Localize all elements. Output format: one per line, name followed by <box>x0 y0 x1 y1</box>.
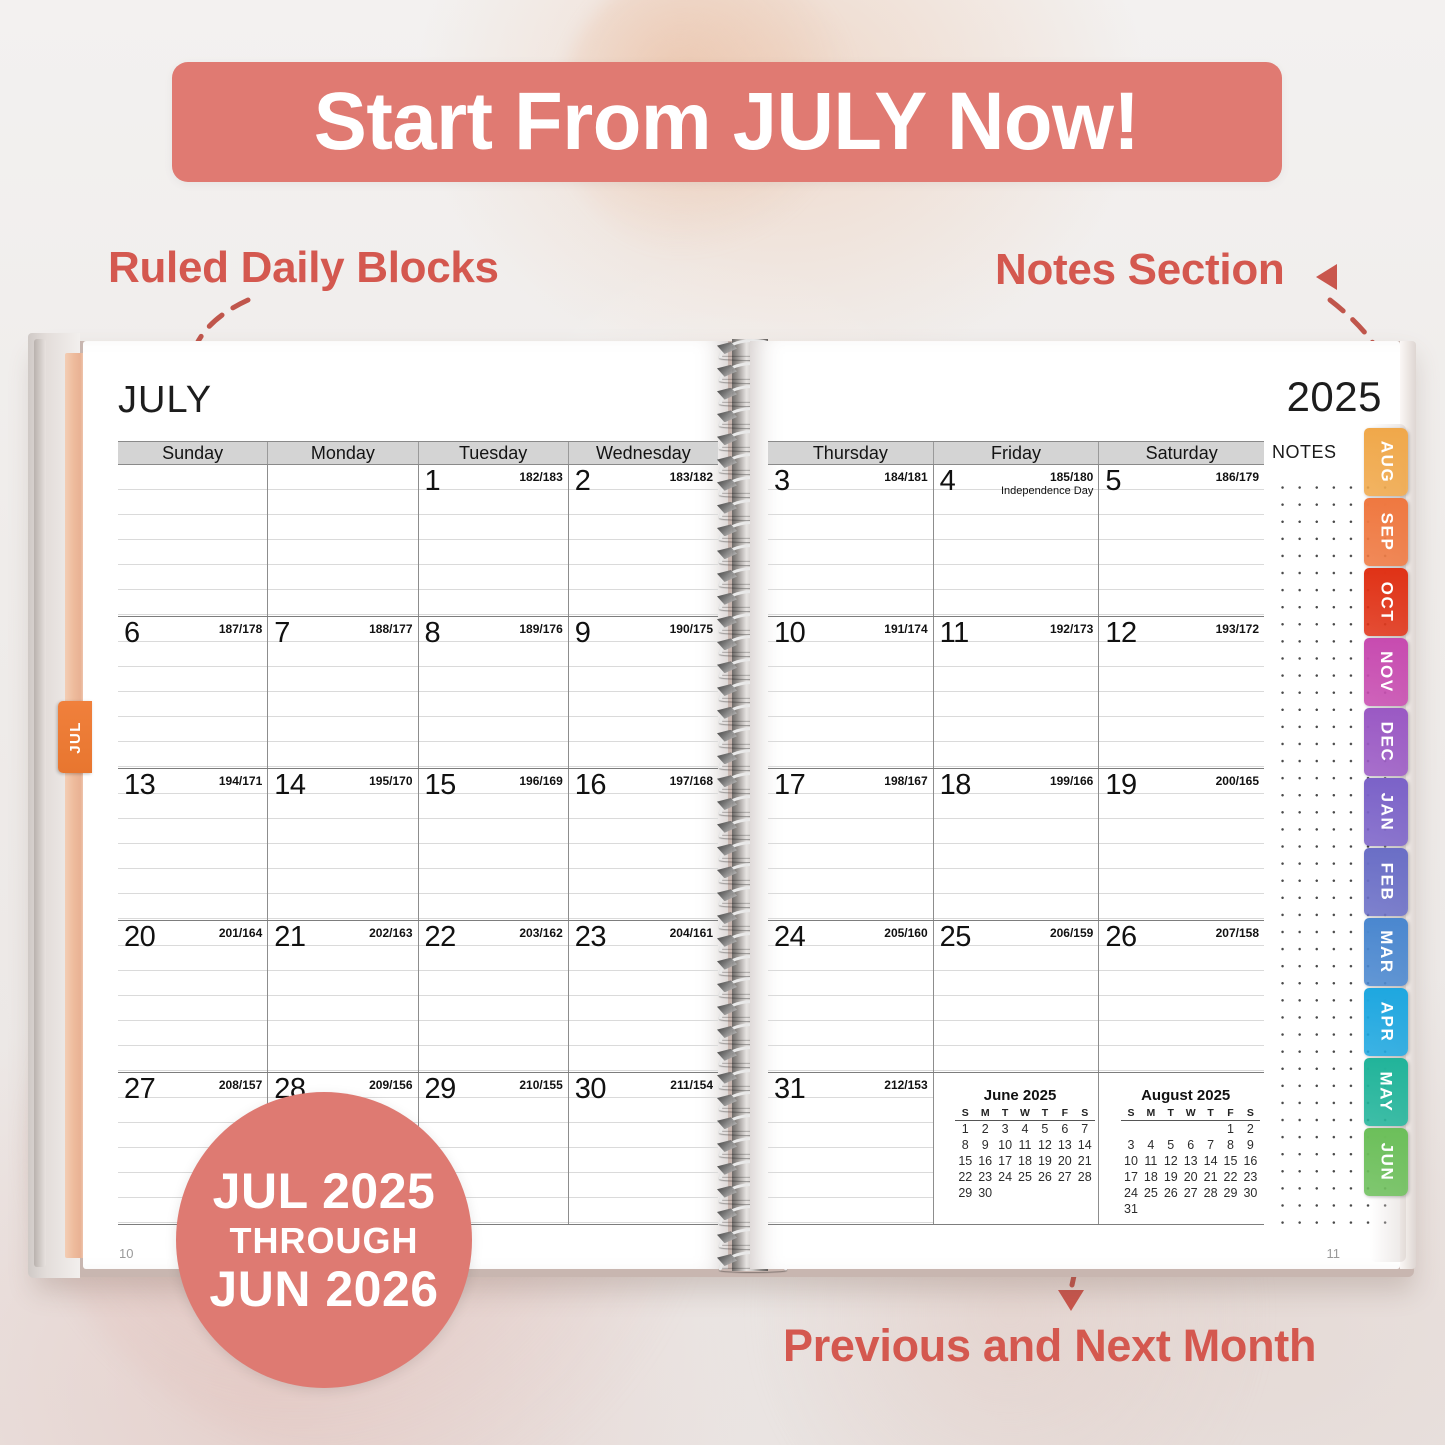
month-tab-jun[interactable]: JUN <box>1364 1128 1408 1196</box>
day-of-year-meta: 206/159 <box>1050 927 1093 941</box>
page-number-right: 11 <box>1327 1246 1341 1261</box>
month-title: JULY <box>118 379 212 422</box>
day-of-year-value: 184/181 <box>884 470 927 484</box>
month-tab-feb[interactable]: FEB <box>1364 848 1408 916</box>
day-of-year-meta: 210/155 <box>519 1079 562 1093</box>
mini-calendar-day[interactable]: 25 <box>1015 1169 1035 1185</box>
mini-calendar-day[interactable] <box>1181 1121 1201 1138</box>
mini-calendar-day[interactable] <box>1035 1185 1055 1201</box>
mini-calendar-week-row: 12 <box>1121 1121 1260 1138</box>
mini-calendar-day[interactable]: 23 <box>975 1169 995 1185</box>
day-of-year-meta: 212/153 <box>884 1079 927 1093</box>
mini-calendar-day[interactable] <box>1240 1201 1260 1217</box>
mini-calendar-day[interactable]: 22 <box>1221 1169 1241 1185</box>
week-rows-left: 1182/1832183/1826187/1787188/1778189/176… <box>118 465 718 1225</box>
day-cell[interactable]: 25206/159 <box>934 921 1100 1072</box>
day-of-year-value: 203/162 <box>519 926 562 940</box>
mini-calendar-day[interactable] <box>1181 1201 1201 1217</box>
day-cell[interactable]: 17198/167 <box>768 769 934 920</box>
day-cell[interactable]: June 2025SMTWTFS123456789101112131415161… <box>934 1073 1100 1224</box>
weekday-header-monday: Monday <box>268 442 418 464</box>
mini-calendar-day[interactable]: 19 <box>1035 1153 1055 1169</box>
day-of-year-meta: 200/165 <box>1216 775 1259 789</box>
day-cell[interactable] <box>118 465 268 616</box>
day-number: 10 <box>774 619 805 648</box>
mini-calendar-day[interactable]: 7 <box>1075 1121 1095 1138</box>
mini-calendar-weekday: W <box>1015 1107 1035 1121</box>
day-of-year-value: 190/175 <box>670 622 713 636</box>
month-tab-sep[interactable]: SEP <box>1364 498 1408 566</box>
month-tab-jan-label: JAN <box>1376 793 1396 832</box>
day-cell[interactable]: 10191/174 <box>768 617 934 768</box>
date-range-badge: JUL 2025 THROUGH JUN 2026 <box>176 1092 472 1388</box>
day-of-year-value: 202/163 <box>369 926 412 940</box>
mini-calendar-header-row: SMTWTFS <box>1121 1107 1260 1121</box>
day-of-year-meta: 186/179 <box>1216 471 1259 485</box>
mini-calendar-weekday: F <box>1221 1107 1241 1121</box>
month-tab-may-label: MAY <box>1376 1071 1396 1112</box>
mini-calendar-day[interactable] <box>1221 1201 1241 1217</box>
mini-calendar-day[interactable] <box>1201 1121 1221 1138</box>
day-of-year-value: 204/161 <box>670 926 713 940</box>
week-row: 24205/16025206/15926207/158 <box>768 921 1264 1073</box>
mini-calendar-week-row: 31 <box>1121 1201 1260 1217</box>
day-of-year-value: 195/170 <box>369 774 412 788</box>
weekday-header-wednesday: Wednesday <box>569 442 718 464</box>
weekday-header-sunday: Sunday <box>118 442 268 464</box>
mini-calendar-day[interactable]: 10 <box>995 1137 1015 1153</box>
weekday-header-row-right: Thursday Friday Saturday <box>768 441 1264 465</box>
mini-calendar-day[interactable]: 2 <box>1240 1121 1260 1138</box>
month-tab-nov-label: NOV <box>1376 651 1396 693</box>
day-of-year-meta: 187/178 <box>219 623 262 637</box>
mini-calendar-day[interactable]: 17 <box>995 1153 1015 1169</box>
week-row: 3184/1814185/180Independence Day5186/179 <box>768 465 1264 617</box>
day-cell[interactable]: 18199/166 <box>934 769 1100 920</box>
mini-calendar-header-row: SMTWTFS <box>955 1107 1094 1121</box>
day-of-year-meta: 185/180Independence Day <box>1001 471 1093 497</box>
mini-calendar-day[interactable] <box>1075 1185 1095 1201</box>
mini-calendar-weekday: T <box>1201 1107 1221 1121</box>
mini-calendar-day[interactable]: 8 <box>1221 1137 1241 1153</box>
arrow-left-icon <box>1316 264 1337 290</box>
mini-calendar-weekday: M <box>1141 1107 1161 1121</box>
mini-calendar-day[interactable]: 20 <box>1055 1153 1075 1169</box>
day-number: 5 <box>1105 467 1121 496</box>
day-cell[interactable]: 31212/153 <box>768 1073 934 1224</box>
day-of-year-meta: 190/175 <box>670 623 713 637</box>
month-tab-aug[interactable]: AUG <box>1364 428 1408 496</box>
mini-calendar-day[interactable]: 3 <box>995 1121 1015 1138</box>
mini-calendar-day[interactable]: 28 <box>1201 1185 1221 1201</box>
mini-calendar-week-row: 3456789 <box>1121 1137 1260 1153</box>
day-of-year-meta: 193/172 <box>1216 623 1259 637</box>
planner-page-right: 2025 Thursday Friday Saturday 3184/18141… <box>750 341 1400 1269</box>
ruled-lines <box>419 465 568 616</box>
mini-calendar-day[interactable]: 5 <box>1161 1137 1181 1153</box>
day-cell[interactable]: 19200/165 <box>1099 769 1264 920</box>
day-cell[interactable]: 22203/162 <box>419 921 569 1072</box>
day-of-year-value: 197/168 <box>670 774 713 788</box>
day-of-year-value: 187/178 <box>219 622 262 636</box>
mini-calendar-weekday: T <box>995 1107 1015 1121</box>
day-number: 9 <box>575 619 591 648</box>
month-tab-aug-label: AUG <box>1376 441 1396 484</box>
day-of-year-value: 212/153 <box>884 1078 927 1092</box>
mini-calendar-day[interactable]: 22 <box>955 1169 975 1185</box>
mini-calendar-day[interactable]: 28 <box>1075 1169 1095 1185</box>
day-cell[interactable]: 1182/183 <box>419 465 569 616</box>
mini-calendar-day[interactable]: 17 <box>1121 1169 1141 1185</box>
day-cell[interactable]: 7188/177 <box>268 617 418 768</box>
day-number: 6 <box>124 619 140 648</box>
holiday-label: Independence Day <box>1001 485 1093 498</box>
weekday-header-saturday: Saturday <box>1099 442 1264 464</box>
day-of-year-value: 211/154 <box>670 1078 713 1092</box>
mini-calendar-table: SMTWTFS123456789101112131415161718192021… <box>955 1107 1094 1201</box>
week-row: 6187/1787188/1778189/1769190/175 <box>118 617 718 769</box>
day-number: 25 <box>940 923 971 952</box>
month-tab-sep-label: SEP <box>1376 513 1396 552</box>
ruled-lines <box>118 617 267 768</box>
day-of-year-meta: 195/170 <box>369 775 412 789</box>
day-of-year-meta: 211/154 <box>670 1079 713 1093</box>
day-of-year-meta: 188/177 <box>369 623 412 637</box>
mini-calendar-day[interactable] <box>1015 1185 1035 1201</box>
day-of-year-value: 205/160 <box>884 926 927 940</box>
mini-calendar-weekday: M <box>975 1107 995 1121</box>
day-cell[interactable]: 26207/158 <box>1099 921 1264 1072</box>
month-tab-jul-label: JUL <box>66 721 83 754</box>
callout-notes-section: Notes Section <box>995 245 1285 295</box>
mini-calendar-weekday: S <box>1240 1107 1260 1121</box>
day-of-year-meta: 202/163 <box>369 927 412 941</box>
day-of-year-meta: 192/173 <box>1050 623 1093 637</box>
day-of-year-value: 200/165 <box>1216 774 1259 788</box>
mini-calendar-table: SMTWTFS123456789101112131415161718192021… <box>1121 1107 1260 1217</box>
day-number: 8 <box>425 619 441 648</box>
mini-calendar-day[interactable]: 4 <box>1141 1137 1161 1153</box>
ruled-lines <box>569 617 718 768</box>
mini-calendar-weekday: F <box>1055 1107 1075 1121</box>
weekday-header-tuesday: Tuesday <box>419 442 569 464</box>
arrow-down-icon <box>1058 1290 1084 1311</box>
day-cell[interactable]: 23204/161 <box>569 921 718 1072</box>
mini-calendar: June 2025SMTWTFS123456789101112131415161… <box>934 1087 1099 1201</box>
badge-line-1: JUL 2025 <box>213 1165 436 1218</box>
day-number: 26 <box>1105 923 1136 952</box>
day-of-year-meta: 198/167 <box>884 775 927 789</box>
mini-calendar-day[interactable]: 14 <box>1075 1137 1095 1153</box>
mini-calendar-day[interactable]: 18 <box>1141 1169 1161 1185</box>
day-of-year-meta: 196/169 <box>519 775 562 789</box>
day-of-year-meta: 191/174 <box>884 623 927 637</box>
day-number: 20 <box>124 923 155 952</box>
mini-calendar-day[interactable] <box>1121 1121 1141 1138</box>
mini-calendar-day[interactable] <box>1201 1201 1221 1217</box>
mini-calendar-week-row: 22232425262728 <box>955 1169 1094 1185</box>
mini-calendar-weekday: S <box>1075 1107 1095 1121</box>
month-tab-jul[interactable]: JUL <box>58 701 92 773</box>
day-cell[interactable]: 4185/180Independence Day <box>934 465 1100 616</box>
mini-calendar-week-row: 891011121314 <box>955 1137 1094 1153</box>
mini-calendar-day[interactable]: 26 <box>1161 1185 1181 1201</box>
day-of-year-value: 207/158 <box>1216 926 1259 940</box>
day-number: 1 <box>425 467 441 496</box>
weekday-header-row-left: Sunday Monday Tuesday Wednesday <box>118 441 718 465</box>
mini-calendar-day[interactable]: 1 <box>1221 1121 1241 1138</box>
mini-calendar-weekday: T <box>1035 1107 1055 1121</box>
mini-calendar-day[interactable]: 31 <box>1121 1201 1141 1217</box>
mini-calendar-weekday: W <box>1181 1107 1201 1121</box>
mini-calendar-day[interactable] <box>1141 1201 1161 1217</box>
day-number: 13 <box>124 771 155 800</box>
day-of-year-meta: 182/183 <box>519 471 562 485</box>
day-cell[interactable]: 13194/171 <box>118 769 268 920</box>
day-number: 18 <box>940 771 971 800</box>
day-number: 15 <box>425 771 456 800</box>
day-cell[interactable]: 6187/178 <box>118 617 268 768</box>
day-number: 2 <box>575 467 591 496</box>
day-cell[interactable]: 24205/160 <box>768 921 934 1072</box>
mini-calendar-day[interactable]: 30 <box>1240 1185 1260 1201</box>
month-tab-oct[interactable]: OCT <box>1364 568 1408 636</box>
mini-calendar-day[interactable]: 26 <box>1035 1169 1055 1185</box>
mini-calendar-week-row: 24252627282930 <box>1121 1185 1260 1201</box>
day-cell[interactable]: 14195/170 <box>268 769 418 920</box>
callout-previous-next-month: Previous and Next Month <box>783 1320 1316 1372</box>
mini-calendar-day[interactable]: 2 <box>975 1121 995 1138</box>
mini-calendar-day[interactable]: 27 <box>1181 1185 1201 1201</box>
ruled-lines <box>1099 465 1264 616</box>
ruled-lines <box>419 617 568 768</box>
day-of-year-value: 191/174 <box>884 622 927 636</box>
day-of-year-value: 208/157 <box>219 1078 262 1092</box>
page-number-left: 10 <box>119 1246 133 1261</box>
day-of-year-value: 206/159 <box>1050 926 1093 940</box>
mini-calendar-day[interactable] <box>995 1185 1015 1201</box>
week-row: 17198/16718199/16619200/165 <box>768 769 1264 921</box>
ruled-lines <box>268 465 417 616</box>
mini-calendar-week-row: 2930 <box>955 1185 1094 1201</box>
mini-calendar-week-row: 15161718192021 <box>955 1153 1094 1169</box>
month-tab-dec-label: DEC <box>1376 722 1396 763</box>
day-number: 31 <box>774 1075 805 1104</box>
month-tab-mar[interactable]: MAR <box>1364 918 1408 986</box>
day-of-year-meta: 199/166 <box>1050 775 1093 789</box>
mini-calendar-day[interactable]: 18 <box>1015 1153 1035 1169</box>
day-number: 7 <box>274 619 290 648</box>
month-tab-feb-label: FEB <box>1376 863 1396 902</box>
mini-calendar-day[interactable]: 20 <box>1181 1169 1201 1185</box>
day-cell[interactable]: 11192/173 <box>934 617 1100 768</box>
day-number: 22 <box>425 923 456 952</box>
mini-calendar-day[interactable]: 21 <box>1075 1153 1095 1169</box>
mini-calendar-day[interactable]: 9 <box>975 1137 995 1153</box>
mini-calendar-day[interactable]: 6 <box>1181 1137 1201 1153</box>
day-cell[interactable]: 12193/172 <box>1099 617 1264 768</box>
day-cell[interactable]: 21202/163 <box>268 921 418 1072</box>
mini-calendar-weekday: T <box>1161 1107 1181 1121</box>
day-of-year-meta: 189/176 <box>519 623 562 637</box>
mini-calendar-day[interactable]: 24 <box>1121 1185 1141 1201</box>
mini-calendar-day[interactable] <box>1161 1201 1181 1217</box>
month-tab-mar-label: MAR <box>1376 930 1396 974</box>
mini-calendar-day[interactable]: 13 <box>1055 1137 1075 1153</box>
weekday-header-friday: Friday <box>934 442 1100 464</box>
day-number: 27 <box>124 1075 155 1104</box>
day-number: 3 <box>774 467 790 496</box>
mini-calendar-weekday: S <box>955 1107 975 1121</box>
day-of-year-meta: 183/182 <box>670 471 713 485</box>
mini-calendar-day[interactable]: 15 <box>1221 1153 1241 1169</box>
ruled-lines <box>268 617 417 768</box>
day-cell[interactable] <box>268 465 418 616</box>
notes-label: NOTES <box>1272 442 1337 463</box>
day-of-year-value: 185/180 <box>1050 470 1093 484</box>
day-of-year-meta: 205/160 <box>884 927 927 941</box>
mini-calendar-week-row: 10111213141516 <box>1121 1153 1260 1169</box>
ruled-lines <box>569 465 718 616</box>
day-cell[interactable]: 16197/168 <box>569 769 718 920</box>
day-cell[interactable]: 5186/179 <box>1099 465 1264 616</box>
mini-calendar-day[interactable]: 10 <box>1121 1153 1141 1169</box>
week-row: 13194/17114195/17015196/16916197/168 <box>118 769 718 921</box>
mini-calendar-day[interactable]: 12 <box>1035 1137 1055 1153</box>
mini-calendar-day[interactable]: 30 <box>975 1185 995 1201</box>
day-number: 14 <box>274 771 305 800</box>
day-of-year-meta: 203/162 <box>519 927 562 941</box>
month-tab-oct-label: OCT <box>1376 582 1396 623</box>
day-of-year-meta: 208/157 <box>219 1079 262 1093</box>
mini-calendar-week-row: 1234567 <box>955 1121 1094 1138</box>
day-number: 21 <box>274 923 305 952</box>
day-number: 30 <box>575 1075 606 1104</box>
day-cell[interactable]: 3184/181 <box>768 465 934 616</box>
day-of-year-meta: 197/168 <box>670 775 713 789</box>
mini-calendar-day[interactable]: 6 <box>1055 1121 1075 1138</box>
mini-calendar-title: June 2025 <box>952 1087 1099 1104</box>
day-cell[interactable]: 30211/154 <box>569 1073 718 1224</box>
mini-calendar-day[interactable]: 27 <box>1055 1169 1075 1185</box>
week-row: 31212/153June 2025SMTWTFS123456789101112… <box>768 1073 1264 1225</box>
month-tab-apr-label: APR <box>1376 1002 1396 1043</box>
mini-calendar-weekday: S <box>1121 1107 1141 1121</box>
day-of-year-meta: 194/171 <box>219 775 262 789</box>
day-cell[interactable]: 20201/164 <box>118 921 268 1072</box>
badge-line-3: JUN 2026 <box>209 1263 438 1316</box>
callout-ruled-daily-blocks: Ruled Daily Blocks <box>108 243 499 293</box>
mini-calendar-day[interactable]: 16 <box>1240 1153 1260 1169</box>
day-of-year-value: 209/156 <box>369 1078 412 1092</box>
day-of-year-meta: 204/161 <box>670 927 713 941</box>
mini-calendar-day[interactable]: 25 <box>1141 1185 1161 1201</box>
mini-calendar-day[interactable]: 11 <box>1015 1137 1035 1153</box>
mini-calendar-day[interactable]: 3 <box>1121 1137 1141 1153</box>
month-tab-jun-label: JUN <box>1376 1143 1396 1182</box>
day-number: 4 <box>940 467 956 496</box>
mini-calendar-day[interactable]: 1 <box>955 1121 975 1138</box>
day-of-year-value: 189/176 <box>519 622 562 636</box>
mini-calendar: August 2025SMTWTFS1234567891011121314151… <box>1099 1087 1264 1217</box>
day-of-year-value: 194/171 <box>219 774 262 788</box>
book-cover-left-edge <box>34 339 46 1267</box>
day-of-year-value: 182/183 <box>519 470 562 484</box>
mini-calendar-day[interactable]: 23 <box>1240 1169 1260 1185</box>
day-of-year-value: 193/172 <box>1216 622 1259 636</box>
mini-calendar-day[interactable] <box>1141 1121 1161 1138</box>
mini-calendar-day[interactable]: 11 <box>1141 1153 1161 1169</box>
week-row: 1182/1832183/182 <box>118 465 718 617</box>
day-of-year-value: 188/177 <box>369 622 412 636</box>
mini-calendar-day[interactable]: 7 <box>1201 1137 1221 1153</box>
mini-calendar-day[interactable]: 15 <box>955 1153 975 1169</box>
mini-calendar-day[interactable]: 4 <box>1015 1121 1035 1138</box>
month-tab-jan[interactable]: JAN <box>1364 778 1408 846</box>
badge-line-2: THROUGH <box>230 1218 419 1263</box>
month-tab-may[interactable]: MAY <box>1364 1058 1408 1126</box>
ruled-lines <box>768 465 933 616</box>
week-rows-right: 3184/1814185/180Independence Day5186/179… <box>768 465 1264 1225</box>
mini-calendar-day[interactable]: 16 <box>975 1153 995 1169</box>
day-cell[interactable]: 8189/176 <box>419 617 569 768</box>
day-of-year-meta: 201/164 <box>219 927 262 941</box>
day-number: 12 <box>1105 619 1136 648</box>
month-tab-apr[interactable]: APR <box>1364 988 1408 1056</box>
day-cell[interactable]: 15196/169 <box>419 769 569 920</box>
mini-calendar-day[interactable]: 8 <box>955 1137 975 1153</box>
month-tab-nov[interactable]: NOV <box>1364 638 1408 706</box>
mini-calendar-day[interactable]: 29 <box>955 1185 975 1201</box>
year-title: 2025 <box>1287 373 1382 421</box>
day-number: 11 <box>940 619 969 648</box>
day-cell[interactable]: August 2025SMTWTFS1234567891011121314151… <box>1099 1073 1264 1224</box>
mini-calendar-day[interactable] <box>1055 1185 1075 1201</box>
mini-calendar-day[interactable]: 9 <box>1240 1137 1260 1153</box>
mini-calendar-week-row: 17181920212223 <box>1121 1169 1260 1185</box>
day-number: 24 <box>774 923 805 952</box>
day-of-year-value: 199/166 <box>1050 774 1093 788</box>
mini-calendar-day[interactable]: 12 <box>1161 1153 1181 1169</box>
mini-calendar-day[interactable] <box>1161 1121 1181 1138</box>
mini-calendar-day[interactable]: 5 <box>1035 1121 1055 1138</box>
mini-calendar-day[interactable]: 14 <box>1201 1153 1221 1169</box>
week-row: 20201/16421202/16322203/16223204/161 <box>118 921 718 1073</box>
ruled-lines <box>118 465 267 616</box>
week-row: 10191/17411192/17312193/172 <box>768 617 1264 769</box>
day-of-year-value: 198/167 <box>884 774 927 788</box>
day-cell[interactable]: 9190/175 <box>569 617 718 768</box>
promo-banner: Start From JULY Now! <box>172 62 1282 182</box>
calendar-grid-right: Thursday Friday Saturday 3184/1814185/18… <box>768 441 1264 1269</box>
mini-calendar-day[interactable]: 21 <box>1201 1169 1221 1185</box>
day-cell[interactable]: 2183/182 <box>569 465 718 616</box>
day-number: 17 <box>774 771 805 800</box>
mini-calendar-day[interactable]: 19 <box>1161 1169 1181 1185</box>
day-number: 16 <box>575 771 606 800</box>
mini-calendar-title: August 2025 <box>1117 1087 1264 1104</box>
weekday-header-thursday: Thursday <box>768 442 934 464</box>
day-of-year-meta: 184/181 <box>884 471 927 485</box>
mini-calendar-day[interactable]: 29 <box>1221 1185 1241 1201</box>
day-number: 23 <box>575 923 606 952</box>
day-number: 29 <box>425 1075 456 1104</box>
day-number: 19 <box>1105 771 1136 800</box>
day-of-year-meta: 209/156 <box>369 1079 412 1093</box>
month-tab-dec[interactable]: DEC <box>1364 708 1408 776</box>
mini-calendar-day[interactable]: 24 <box>995 1169 1015 1185</box>
mini-calendar-day[interactable]: 13 <box>1181 1153 1201 1169</box>
